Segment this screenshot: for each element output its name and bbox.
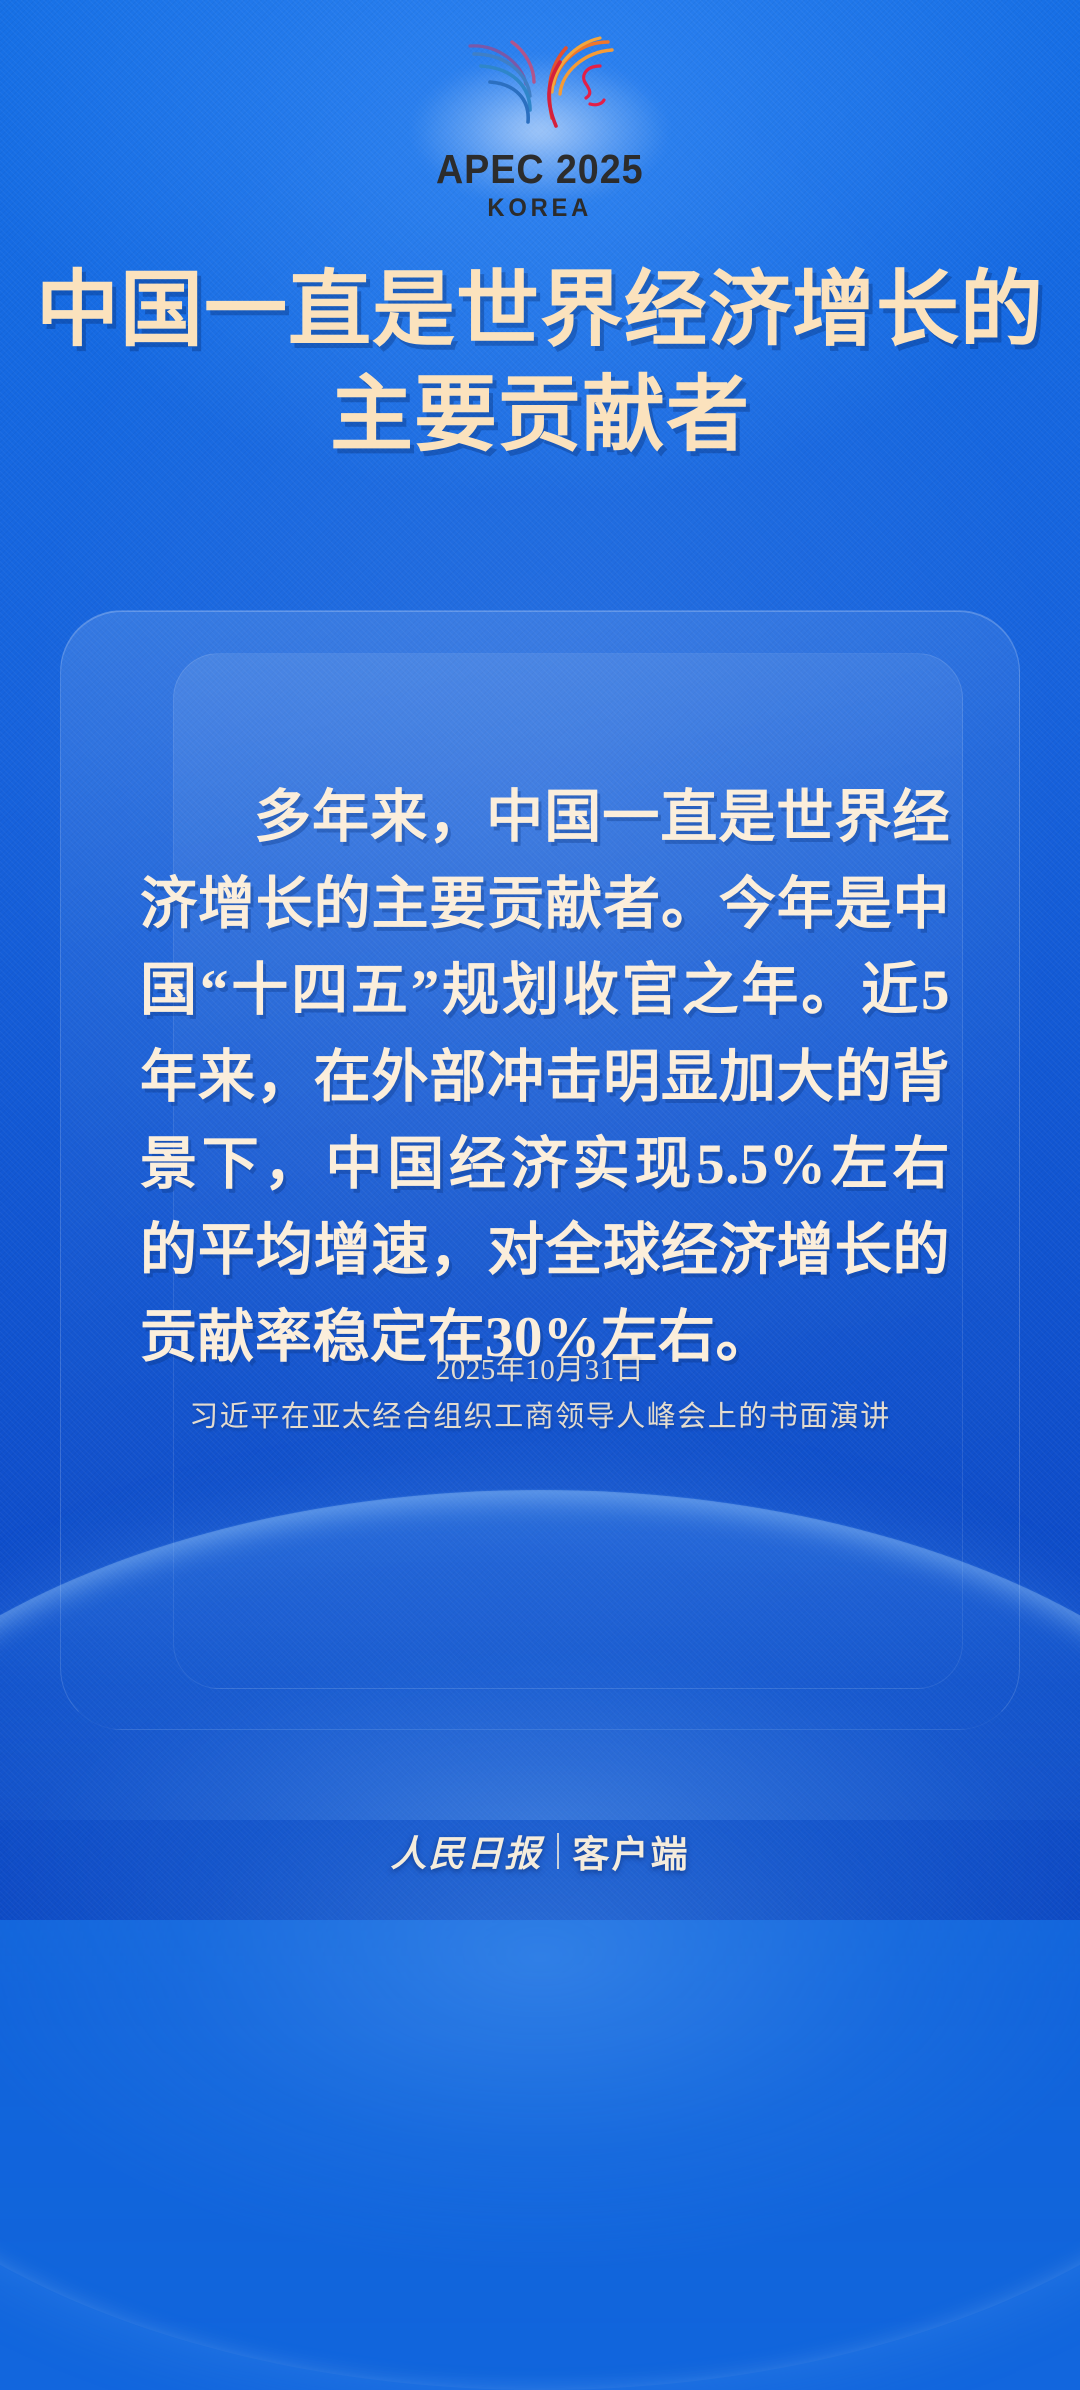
apec-host-label: KOREA	[433, 194, 647, 223]
page-title-line1: 中国一直是世界经济增长的	[0, 258, 1080, 363]
source-date: 2025年10月31日	[0, 1347, 1080, 1394]
apec-year-label: APEC 2025	[436, 148, 643, 191]
source-attribution: 2025年10月31日 习近平在亚太经合组织工商领导人峰会上的书面演讲	[0, 1347, 1080, 1441]
publisher-name: 人民日报	[390, 1825, 542, 1877]
apec-2025-korea-logo	[440, 22, 640, 146]
publisher-logo: 人民日报 客户端	[0, 1824, 1080, 1878]
source-speech: 习近平在亚太经合组织工商领导人峰会上的书面演讲	[0, 1394, 1080, 1441]
apec-emblem-icon	[440, 22, 640, 146]
page-title: 中国一直是世界经济增长的 主要贡献者	[0, 258, 1080, 467]
publisher-app-name: 客户端	[573, 1824, 690, 1878]
publisher-divider-icon	[557, 1833, 559, 1869]
quote-body-text: 多年来，中国一直是世界经济增长的主要贡献者。今年是中国“十四五”规划收官之年。近…	[140, 775, 950, 1381]
apec-logo-block: APEC 2025 KOREA	[0, 22, 1080, 223]
apec-logo-text: APEC 2025 KOREA	[427, 148, 653, 223]
page-title-line2: 主要贡献者	[0, 363, 1080, 468]
